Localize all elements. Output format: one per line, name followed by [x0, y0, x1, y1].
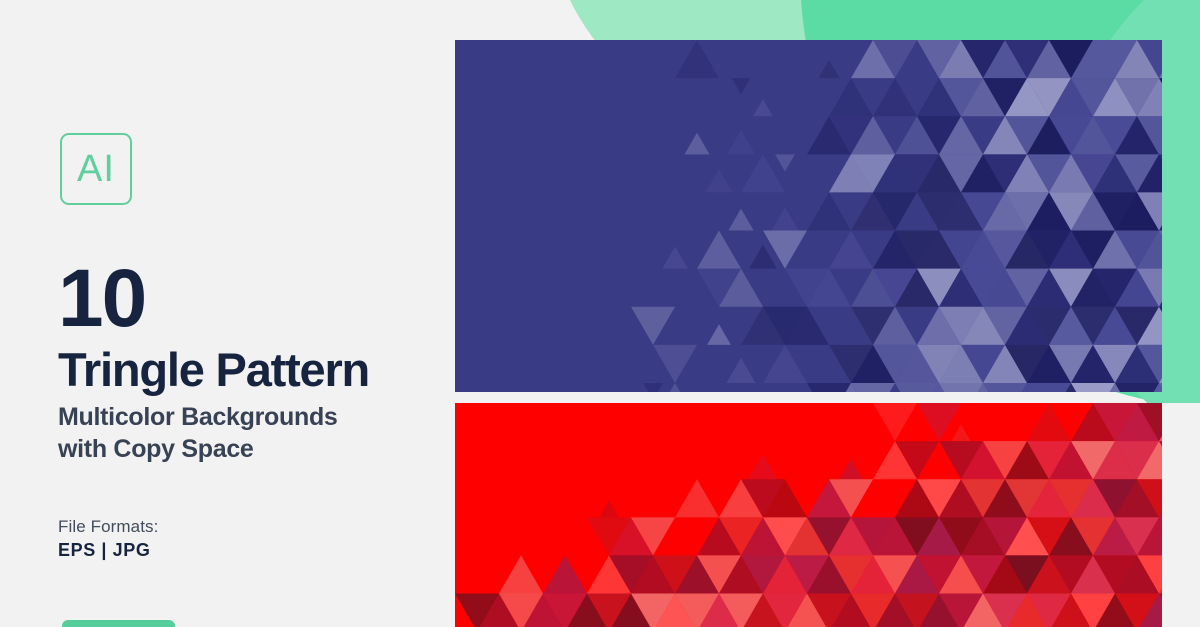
blue-triangle-pattern	[455, 40, 1162, 392]
red-triangle-pattern	[455, 403, 1162, 627]
poster-canvas: AI 10 Tringle Pattern Multicolor Backgro…	[0, 0, 1200, 627]
page-subtitle-line-1: Multicolor Backgrounds	[58, 402, 338, 434]
page-subtitle: Multicolor Backgrounds with Copy Space	[58, 402, 338, 466]
page-subtitle-line-2: with Copy Space	[58, 434, 338, 466]
item-count: 10	[58, 261, 145, 336]
cta-button[interactable]	[62, 620, 175, 627]
blue-triangle-preview[interactable]	[455, 40, 1162, 392]
adobe-illustrator-badge-label: AI	[62, 135, 130, 203]
adobe-illustrator-badge: AI	[60, 133, 132, 205]
file-formats-label: File Formats:	[58, 517, 158, 537]
file-formats-value: EPS | JPG	[58, 540, 150, 561]
page-title: Tringle Pattern	[58, 346, 369, 393]
red-triangle-preview[interactable]	[455, 403, 1162, 627]
